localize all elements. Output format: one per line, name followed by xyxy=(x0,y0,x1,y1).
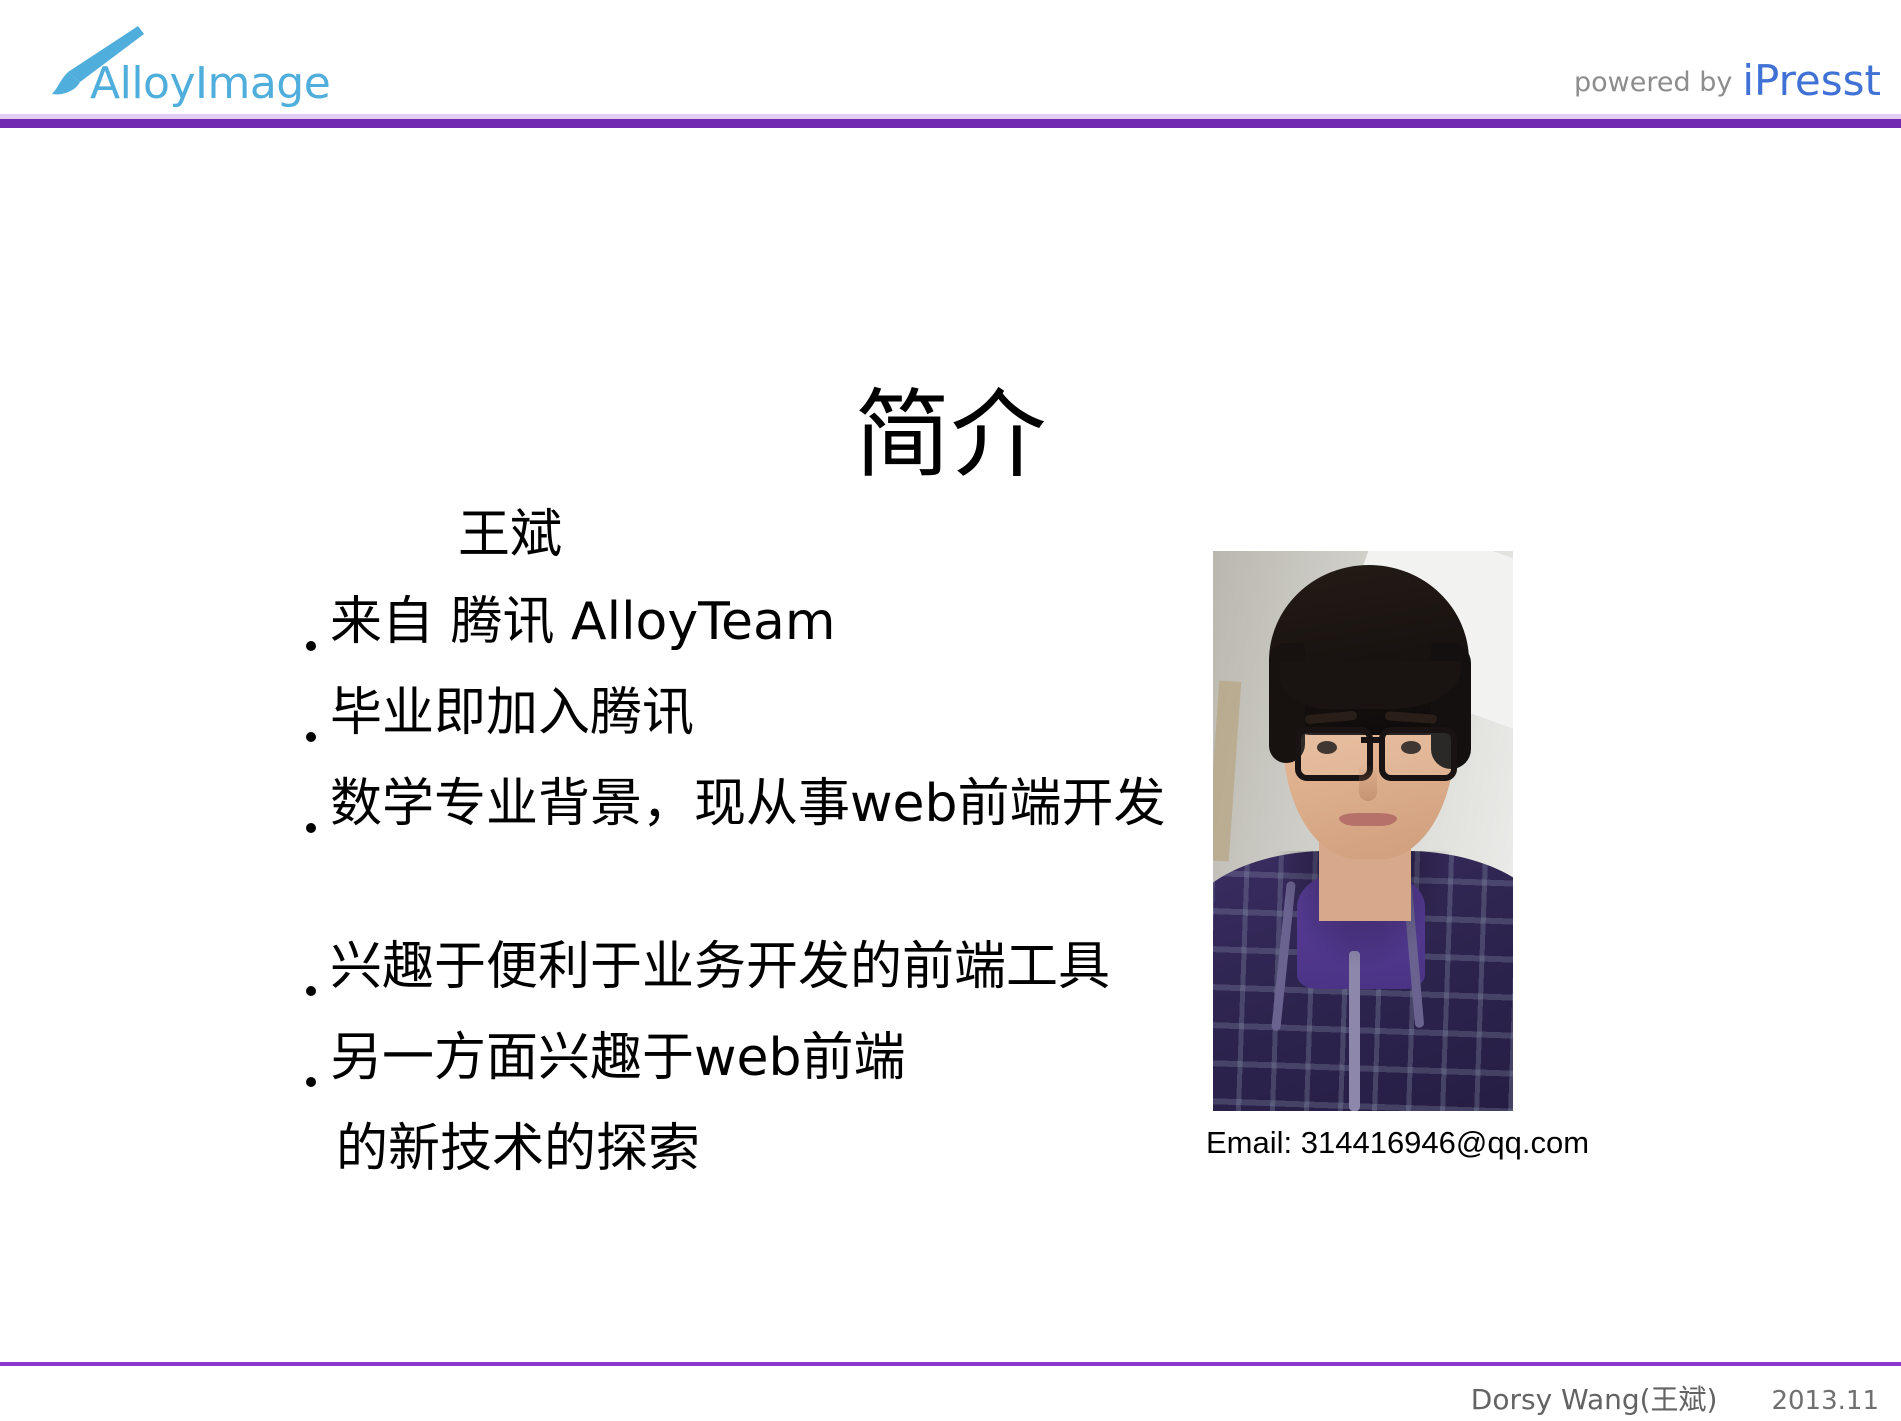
bullet-dot-icon xyxy=(306,641,316,651)
powered-by-label: powered by xyxy=(1574,67,1732,98)
subject-name: 王斌 xyxy=(458,508,562,563)
bullet-dot-icon xyxy=(306,823,316,833)
list-item: 来自 腾讯 AlloyTeam xyxy=(300,593,1180,684)
list-item-label: 数学专业背景，现从事web前端开发 xyxy=(330,775,1166,835)
slide: AlloyImage powered byiPresst 简介 王斌 来自 腾讯… xyxy=(0,0,1901,1421)
bullet-list: 来自 腾讯 AlloyTeam 毕业即加入腾讯 数学专业背景，现从事web前端开… xyxy=(300,593,1180,1211)
list-item-continuation-label: 的新技术的探索 xyxy=(336,1120,700,1180)
header-divider xyxy=(0,119,1901,128)
list-item-label: 另一方面兴趣于web前端 xyxy=(330,1029,906,1089)
footer-author: Dorsy Wang(王斌) xyxy=(1471,1383,1718,1416)
page-title: 简介 xyxy=(0,385,1901,487)
footer-date: 2013.11 xyxy=(1771,1386,1879,1416)
list-item: 毕业即加入腾讯 xyxy=(300,684,1180,775)
list-item-label: 来自 腾讯 AlloyTeam xyxy=(330,593,836,653)
list-item: 兴趣于便利于业务开发的前端工具 xyxy=(300,938,1180,1029)
list-item: 数学专业背景，现从事web前端开发 xyxy=(300,775,1180,866)
email-address: Email: 314416946@qq.com xyxy=(1206,1125,1589,1161)
photo-zipper xyxy=(1349,951,1360,1111)
alloyimage-logo[interactable]: AlloyImage xyxy=(38,22,298,108)
ipresst-brand: iPresst xyxy=(1742,56,1881,105)
footer-divider xyxy=(0,1362,1901,1366)
list-item-label: 兴趣于便利于业务开发的前端工具 xyxy=(330,938,1110,998)
list-item-continuation: 的新技术的探索 xyxy=(300,1120,1180,1211)
slide-header: AlloyImage powered byiPresst xyxy=(0,0,1901,119)
alloyimage-logo-text: AlloyImage xyxy=(90,58,330,109)
photo-glasses-right-lens xyxy=(1379,727,1457,781)
list-item: 另一方面兴趣于web前端 xyxy=(300,1029,1180,1120)
portrait-block: Email: 314416946@qq.com xyxy=(1213,551,1513,1111)
slide-footer: Dorsy Wang(王斌)2013.11 xyxy=(1471,1378,1879,1418)
powered-by-ipresst: powered byiPresst xyxy=(1574,56,1881,105)
photo-glasses-bridge xyxy=(1361,737,1381,743)
bullet-dot-icon xyxy=(306,1077,316,1087)
bullet-dot-icon xyxy=(306,732,316,742)
list-item-label: 毕业即加入腾讯 xyxy=(330,684,694,744)
photo-mouth xyxy=(1339,813,1397,826)
photo-nose xyxy=(1359,765,1377,801)
portrait-photo xyxy=(1213,551,1513,1111)
bullet-dot-icon xyxy=(306,986,316,996)
